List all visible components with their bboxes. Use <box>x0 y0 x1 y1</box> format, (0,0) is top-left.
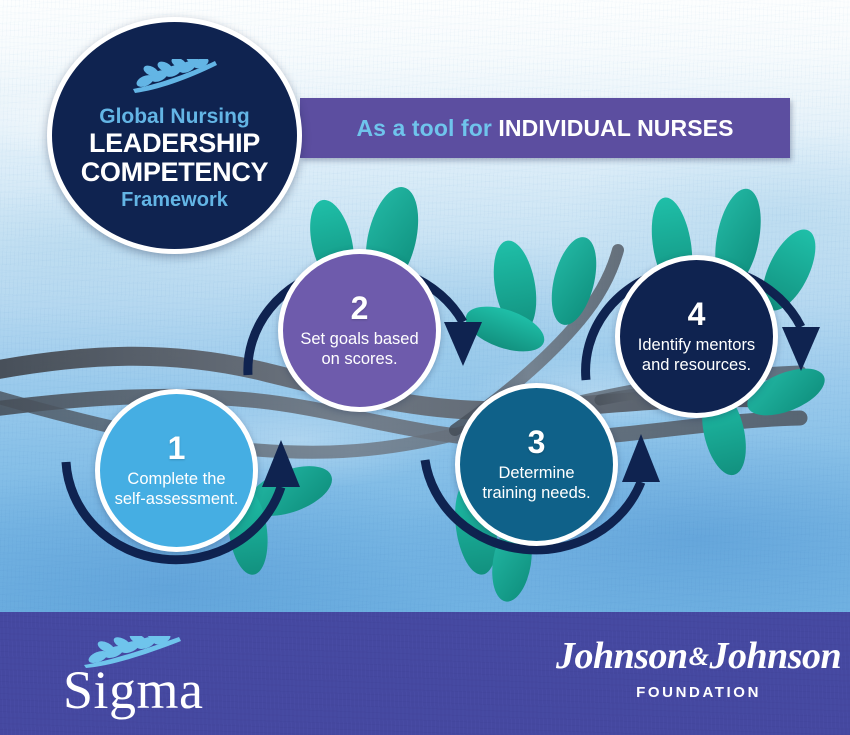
step-circle-3[interactable]: 3 Determine training needs. <box>455 383 618 546</box>
logo-badge: Global Nursing LEADERSHIP COMPETENCY Fra… <box>47 17 302 254</box>
badge-line-2a: LEADERSHIP <box>89 129 260 158</box>
step-number-4: 4 <box>688 298 706 330</box>
step-label-4: Identify mentors and resources. <box>620 335 773 375</box>
step-circle-2[interactable]: 2 Set goals based on scores. <box>278 249 441 412</box>
sigma-wordmark: Sigma <box>63 665 204 717</box>
step-circle-4[interactable]: 4 Identify mentors and resources. <box>615 255 778 418</box>
badge-line-1: Global Nursing <box>99 105 250 129</box>
jnj-foundation-label: FOUNDATION <box>636 684 761 701</box>
johnson-and-johnson-logo: Johnson&Johnson FOUNDATION <box>556 637 841 701</box>
step-label-2: Set goals based on scores. <box>283 329 436 369</box>
step-label-1: Complete the self-assessment. <box>100 469 253 509</box>
arrow-head-step-4 <box>782 327 820 371</box>
sigma-logo: Sigma <box>63 636 204 717</box>
header-banner-text: As a tool for INDIVIDUAL NURSES <box>356 115 733 142</box>
arrow-head-step-3 <box>622 434 660 482</box>
laurel-sprig-icon <box>129 59 221 93</box>
step-number-1: 1 <box>168 432 186 464</box>
banner-strong-text: INDIVIDUAL NURSES <box>498 115 733 141</box>
step-label-3: Determine training needs. <box>460 463 613 503</box>
jnj-wordmark: Johnson&Johnson <box>556 637 841 675</box>
step-circle-1[interactable]: 1 Complete the self-assessment. <box>95 389 258 552</box>
header-banner: As a tool for INDIVIDUAL NURSES <box>300 98 790 158</box>
arrow-head-step-2 <box>444 322 482 366</box>
badge-line-2b: COMPETENCY <box>81 158 269 187</box>
jnj-ampersand: & <box>688 642 710 671</box>
jnj-part-2: Johnson <box>709 635 841 677</box>
step-number-2: 2 <box>351 292 369 324</box>
jnj-part-1: Johnson <box>556 635 688 677</box>
step-number-3: 3 <box>528 426 546 458</box>
infographic-canvas: As a tool for INDIVIDUAL NURSES Global N… <box>0 0 850 735</box>
banner-lead-text: As a tool for <box>356 115 498 141</box>
badge-line-3: Framework <box>121 188 228 212</box>
